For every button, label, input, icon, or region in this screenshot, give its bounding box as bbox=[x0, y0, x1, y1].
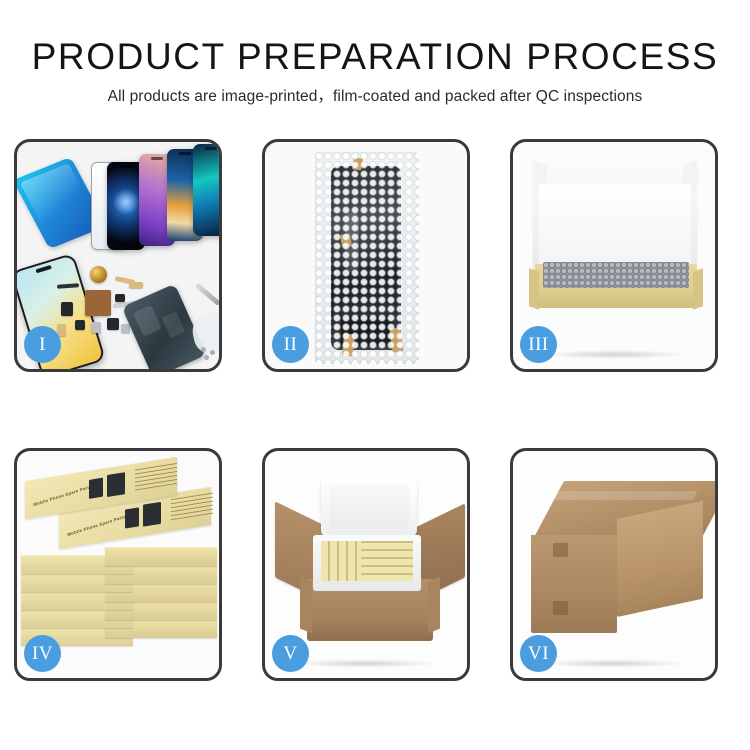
bubble-bag-icon bbox=[315, 152, 419, 364]
step-panel-1[interactable]: I bbox=[14, 139, 222, 372]
step-badge-2: II bbox=[272, 326, 309, 363]
step-panel-2[interactable]: II bbox=[262, 139, 470, 372]
step-badge-4: IV bbox=[24, 635, 61, 672]
step-badge-3: III bbox=[520, 326, 557, 363]
chip-grid-icon bbox=[85, 290, 111, 316]
box-label-text-2: Mobile Phone Spare Parts bbox=[67, 514, 126, 537]
component-bit-8 bbox=[129, 282, 143, 288]
header: PRODUCT PREPARATION PROCESS All products… bbox=[0, 36, 750, 107]
repair-tweezer-icon bbox=[195, 283, 219, 306]
component-bit-4 bbox=[91, 322, 101, 333]
component-bit-6 bbox=[121, 324, 130, 333]
drop-shadow bbox=[541, 659, 686, 668]
component-bit-7 bbox=[115, 294, 125, 302]
product-preparation-infographic: PRODUCT PREPARATION PROCESS All products… bbox=[0, 0, 750, 750]
bubble-texture bbox=[315, 152, 419, 364]
drop-shadow bbox=[541, 350, 686, 359]
step-panel-4[interactable]: Mobile Phone Spare Parts Mobile Phone Sp… bbox=[14, 448, 222, 681]
step-badge-6: VI bbox=[520, 635, 557, 672]
carton-tab-bottom-icon bbox=[553, 601, 568, 615]
carton-tab-top-icon bbox=[553, 543, 568, 557]
carton-front-face-icon bbox=[531, 535, 617, 633]
speaker-coil-icon bbox=[90, 266, 107, 283]
step-panel-6[interactable]: VI bbox=[510, 448, 718, 681]
foam-case-lid-icon bbox=[321, 477, 417, 537]
white-foam-sheet-icon bbox=[539, 184, 691, 266]
page-title: PRODUCT PREPARATION PROCESS bbox=[0, 36, 750, 78]
box-label-text-1: Mobile Phone Spare Parts bbox=[33, 484, 92, 507]
packed-boxes-right-icon bbox=[361, 541, 413, 581]
carton-side-face-icon bbox=[617, 501, 703, 617]
step-panel-3[interactable]: III bbox=[510, 139, 718, 372]
component-bit-1 bbox=[61, 302, 73, 316]
phone-display-d-icon bbox=[193, 144, 219, 236]
step-badge-5: V bbox=[272, 635, 309, 672]
step-badge-1: I bbox=[24, 326, 61, 363]
page-subtitle: All products are image-printed，film-coat… bbox=[0, 87, 750, 107]
drop-shadow bbox=[293, 659, 438, 668]
step-panel-5[interactable]: V bbox=[262, 448, 470, 681]
process-step-grid: I II bbox=[14, 139, 736, 681]
component-bit-5 bbox=[107, 318, 119, 330]
carton-tape-seam-icon bbox=[533, 491, 698, 500]
bubble-packed-contents-icon bbox=[543, 262, 689, 288]
screws-icon bbox=[201, 347, 219, 359]
component-bit-2 bbox=[75, 320, 85, 330]
